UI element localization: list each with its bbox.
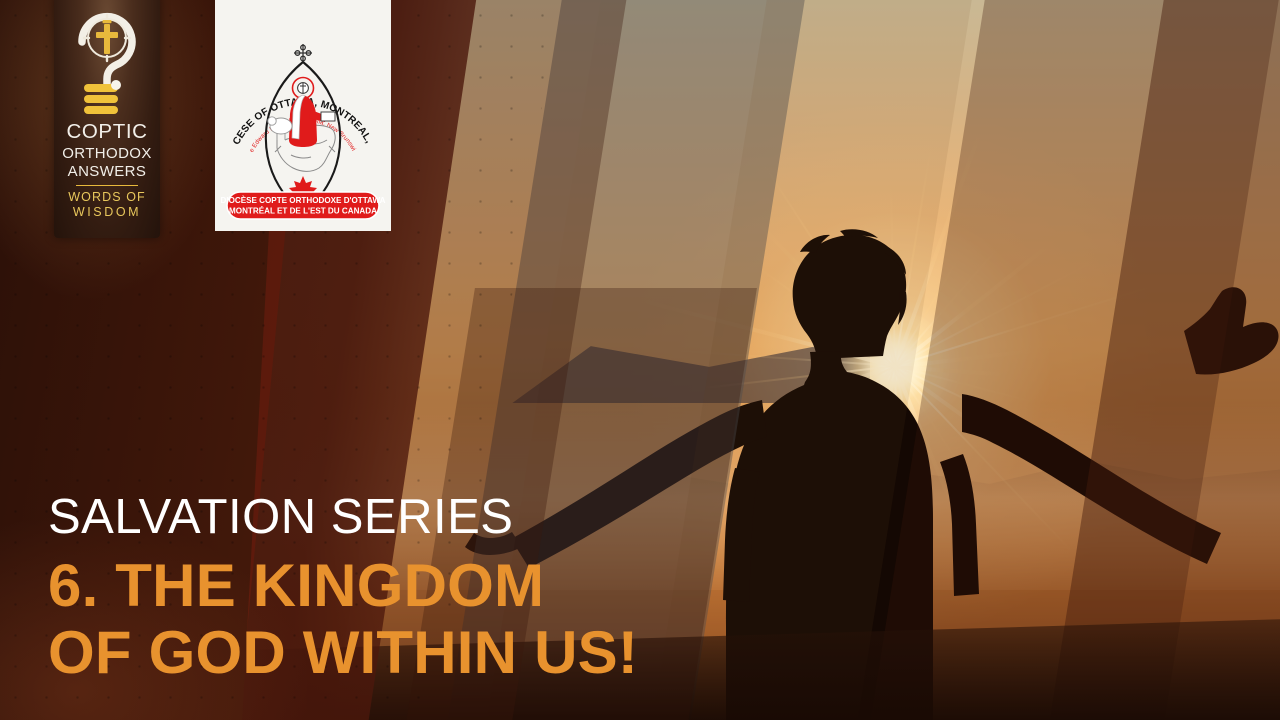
coa-divider (76, 185, 138, 186)
diocese-banner-line-1: DIOCÈSE COPTE ORTHODOXE D'OTTAWA (220, 196, 385, 205)
diocese-banner-line-2: MONTRÉAL ET DE L'EST DU CANADA (229, 207, 377, 216)
diocese-logo: COPTIC ORTHODOX DIOCESE OF OTTAWA, MONTR… (215, 0, 391, 231)
coa-line-4: WORDS OF (54, 191, 160, 204)
video-thumbnail: COPTIC ORTHODOX ANSWERS WORDS OF WISDOM … (0, 0, 1280, 720)
coptic-orthodox-answers-logo: COPTIC ORTHODOX ANSWERS WORDS OF WISDOM (54, 0, 160, 238)
main-title: 6. THE KINGDOM OF GOD WITHIN US! (48, 552, 638, 686)
question-mark-lightbulb-with-cross-icon (54, 0, 160, 122)
main-title-line-1: 6. THE KINGDOM (48, 552, 638, 619)
series-label: SALVATION SERIES (48, 493, 638, 542)
coa-line-3: ANSWERS (54, 164, 160, 179)
title-block: SALVATION SERIES 6. THE KINGDOM OF GOD W… (48, 493, 638, 686)
coa-line-5: WISDOM (54, 206, 160, 219)
coa-line-1: COPTIC (54, 122, 160, 143)
coptic-cross-icon (294, 44, 312, 62)
main-title-line-2: OF GOD WITHIN US! (48, 619, 638, 686)
coa-line-2: ORTHODOX (54, 146, 160, 161)
diocese-banner: DIOCÈSE COPTE ORTHODOXE D'OTTAWA MONTRÉA… (220, 192, 385, 219)
